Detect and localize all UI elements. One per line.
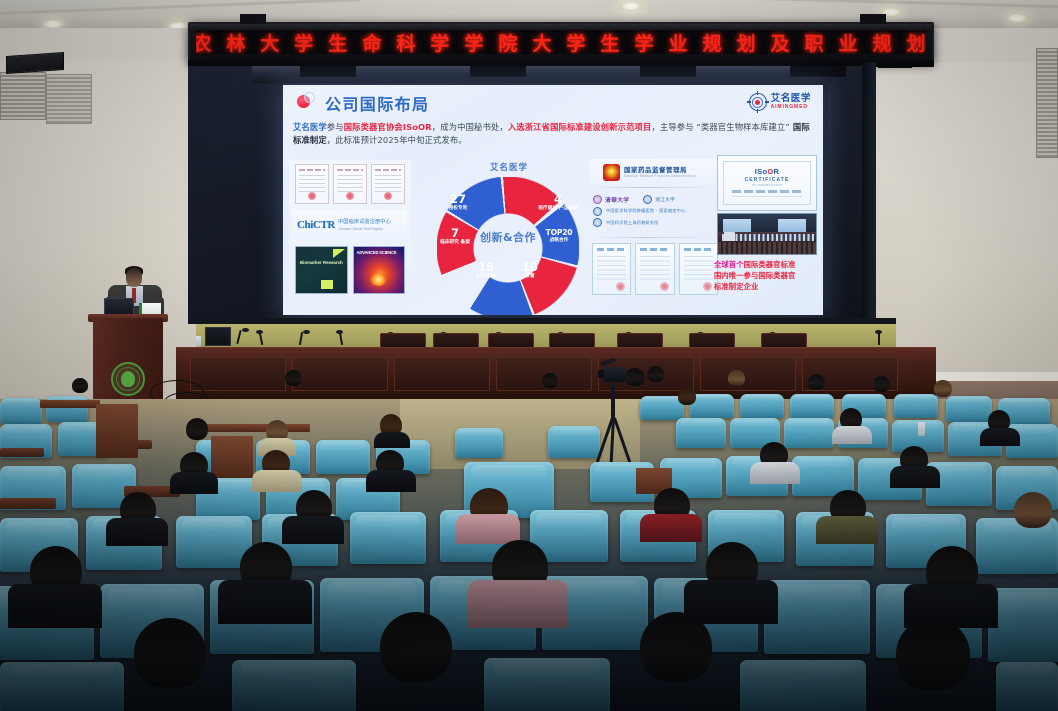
air-vent-icon — [46, 74, 92, 124]
laptop-icon — [205, 327, 231, 346]
recessed-downlight-icon — [620, 2, 642, 11]
seated-attendee-icon — [808, 374, 825, 390]
journal-cover-biomarker-research: Biomarker Research — [295, 246, 348, 294]
journal-title-2: ADVANCED SCIENCE — [357, 250, 397, 255]
journal-title-1: Biomarker Research — [300, 260, 343, 266]
auditorium-seat-icon[interactable] — [0, 398, 42, 424]
auditorium-seat-icon[interactable] — [946, 396, 992, 422]
university-seal-icon — [643, 195, 652, 204]
claim-line1-part2: 国际类器官标准 — [744, 260, 796, 269]
seat-armrest — [0, 498, 56, 509]
auditorium-seat-icon[interactable] — [988, 588, 1058, 662]
innovation-cooperation-donut: 27 授权专利 7 临床研究 备案 18 SCI 文章 10 软著 — [437, 177, 579, 299]
donut-segment-5 — [437, 177, 579, 315]
institute-seal-icon — [593, 207, 602, 216]
attendee-shoulders — [366, 470, 416, 492]
water-bottle-icon — [196, 336, 201, 347]
center-aisle-floor — [400, 399, 640, 469]
seated-attendee-icon — [134, 618, 206, 688]
auditorium-seat-icon[interactable] — [350, 512, 426, 564]
claim-line2: 国内唯一参与国际类器官 — [714, 270, 820, 281]
led-panel: 福 建 农 林 大 学 生 命 科 学 学 院 大 学 生 学 业 规 划 及 … — [196, 30, 926, 54]
auditorium-seat-icon[interactable] — [232, 660, 356, 711]
claim-line1-part1: 全球首个 — [714, 260, 744, 269]
seated-attendee-icon — [285, 370, 302, 386]
auditorium-seat-icon[interactable] — [740, 394, 784, 418]
attendee-shoulders — [468, 580, 568, 628]
university-name-3: 中国科学院上海药物研究所 — [606, 220, 659, 226]
slide-far-right-panel: ISoOR CERTIFICATE OF MEMBERSHIP — [714, 155, 820, 303]
chictr-registry-logo-block: ChiCTR 中国临床试验注册中心 Chinese Clinical Trial… — [293, 210, 407, 240]
seated-attendee-icon — [873, 376, 890, 392]
nmpa-name-cn: 国家药品监督管理局 — [624, 166, 696, 174]
attendee-shoulders — [106, 518, 168, 546]
body-seg-4: ，成为中国秘书处， — [432, 122, 508, 132]
valance-tab — [300, 66, 356, 77]
iso-certificate-subtitle2: OF MEMBERSHIP — [724, 183, 810, 187]
company-logo: 艾名医学 AIMINGMED — [748, 92, 811, 112]
led-mount-bracket — [240, 14, 266, 24]
air-vent-icon — [0, 72, 46, 120]
body-seg-1: 艾名医学 — [293, 122, 327, 132]
water-bottle-icon — [918, 422, 925, 436]
certificate-thumbnail — [592, 243, 631, 295]
seated-attendee-icon — [934, 380, 952, 397]
attendee-shoulders — [890, 466, 940, 488]
led-mount-bracket — [860, 14, 886, 24]
aimingmed-target-logo-icon — [748, 92, 768, 112]
led-scrolling-banner: 福 建 农 林 大 学 生 命 科 学 学 院 大 学 生 学 业 规 划 及 … — [188, 22, 934, 62]
auditorium-seat-icon[interactable] — [740, 660, 866, 711]
donut-brand-label: 艾名医学 — [415, 161, 603, 173]
auditorium-seat-icon[interactable] — [784, 418, 834, 448]
chictr-name-cn: 中国临床试验注册中心 — [338, 219, 391, 226]
red-seal-icon — [616, 282, 625, 291]
university-row: 中国医学科学院肿瘤医院 · 国家癌症中心 — [593, 207, 719, 216]
valance-tab — [790, 66, 846, 77]
stage-side-column — [862, 62, 876, 324]
red-seal-icon — [384, 192, 392, 200]
divider — [597, 237, 713, 238]
seated-attendee-icon — [542, 373, 558, 388]
body-seg-5: 入选浙江省国际标准建设创新示范项目 — [508, 122, 652, 132]
claim-line3: 标准制定企业 — [714, 281, 820, 292]
certificate-thumbnail — [295, 164, 329, 204]
auditorium-seat-icon[interactable] — [484, 658, 610, 711]
valance-tab — [640, 66, 696, 77]
logo-text-cn: 艾名医学 — [771, 94, 811, 104]
auditorium-seat-icon[interactable] — [548, 426, 600, 458]
slide-header: 公司国际布局 艾名医学 AIMINGMED — [283, 85, 823, 118]
auditorium-seat-icon[interactable] — [894, 394, 938, 418]
attendee-shoulders — [816, 516, 878, 544]
seated-attendee-icon — [728, 370, 745, 386]
microphone-icon — [875, 330, 882, 334]
attendee-shoulders — [684, 580, 778, 624]
bullet-ring-icon — [304, 92, 315, 103]
body-seg-2: 参与 — [327, 122, 344, 132]
slide-body-paragraph: 艾名医学参与国际类器官协会ISoOR，成为中国秘书处，入选浙江省国际标准建设创新… — [293, 121, 815, 148]
seated-attendee-icon — [678, 388, 696, 405]
conference-photo — [717, 213, 817, 255]
university-name-0: 清華大学 — [605, 195, 629, 204]
university-row: 清華大学 浙江大学 — [593, 195, 719, 204]
red-seal-icon — [346, 192, 354, 200]
auditorium-seat-icon[interactable] — [676, 418, 726, 448]
seated-attendee-icon — [640, 612, 712, 682]
attendee-shoulders — [750, 462, 800, 484]
seated-attendee-icon — [186, 418, 208, 440]
slide-content-columns: ChiCTR 中国临床试验注册中心 Chinese Clinical Trial… — [289, 157, 817, 309]
donut-chart-block: 艾名医学 27 授权专利 — [415, 157, 603, 303]
seat-armrest — [0, 448, 44, 457]
certificate-thumbnail — [333, 164, 367, 204]
auditorium-seat-icon[interactable] — [764, 580, 870, 654]
university-row: 中国科学院上海药物研究所 — [593, 218, 719, 227]
seat-writing-desk — [211, 436, 253, 482]
projected-slide: 公司国际布局 艾名医学 AIMINGMED 艾名医学参与国际类器官协会ISoOR… — [283, 85, 823, 315]
auditorium-seat-icon[interactable] — [790, 394, 834, 418]
body-seg-8: ，此标准预计2025年中旬正式发布。 — [327, 135, 467, 145]
slide-title: 公司国际布局 — [325, 91, 429, 115]
certificate-thumbnail — [679, 243, 718, 295]
logo-text-en: AIMINGMED — [771, 105, 811, 110]
slide-right-panel: 国家药品监督管理局 National Medical Products Admi… — [589, 157, 721, 297]
air-vent-icon — [1036, 48, 1058, 158]
attendee-shoulders — [374, 432, 410, 448]
camera-body — [604, 367, 625, 382]
attendee-shoulders — [170, 472, 218, 494]
microphone-icon — [303, 330, 310, 334]
attendee-shoulders — [980, 428, 1020, 446]
microphone-icon — [256, 330, 263, 334]
nmpa-name-en: National Medical Products Administration — [624, 174, 696, 178]
divider — [597, 187, 713, 188]
university-name-2: 中国医学科学院肿瘤医院 · 国家癌症中心 — [606, 208, 686, 214]
seated-attendee-icon — [896, 618, 970, 690]
chictr-logo-icon: ChiCTR — [297, 219, 335, 231]
nmpa-logo-block: 国家药品监督管理局 National Medical Products Admi… — [589, 159, 721, 185]
attendee-shoulders — [640, 514, 702, 542]
certificate-thumbnail — [635, 243, 674, 295]
attendee-shoulders — [832, 426, 872, 444]
body-seg-6: ，主导参与 “类器官生物样本库建立” — [651, 122, 789, 132]
attendee-shoulders — [282, 516, 344, 544]
recessed-downlight-icon — [1006, 14, 1028, 23]
certificate-thumbnail — [371, 164, 405, 204]
chictr-name-en: Chinese Clinical Trial Registry — [338, 227, 391, 231]
seated-attendee-icon — [1014, 492, 1052, 528]
national-emblem-icon — [603, 164, 620, 181]
certificate-row — [592, 243, 718, 295]
journal-cover-row: Biomarker Research ADVANCED SCIENCE — [295, 246, 405, 294]
university-seal-icon — [593, 195, 602, 204]
journal-cover-advanced-science: ADVANCED SCIENCE — [353, 246, 406, 294]
attendee-shoulders — [456, 514, 520, 544]
auditorium-seat-icon[interactable] — [976, 518, 1058, 574]
microphone-icon — [336, 330, 343, 334]
auditorium-seat-icon[interactable] — [316, 440, 370, 474]
slide-left-panel: ChiCTR 中国临床试验注册中心 Chinese Clinical Trial… — [289, 160, 411, 300]
global-standard-claim: 全球首个国际类器官标准 国内唯一参与国际类器官 标准制定企业 — [714, 259, 820, 292]
university-partner-list: 清華大学 浙江大学 中国医学科学院肿瘤医院 · 国家癌症中心 中国科学院上海 — [593, 195, 719, 235]
microphone-icon — [242, 328, 249, 332]
attendee-shoulders — [8, 584, 102, 628]
donut-center-label: 创新&合作 — [465, 229, 551, 245]
auditorium-lecture-photo: 福 建 农 林 大 学 生 命 科 学 学 院 大 学 生 学 业 规 划 及 … — [0, 0, 1058, 711]
tripod-column — [611, 381, 615, 421]
auditorium-seat-icon[interactable] — [455, 428, 503, 458]
led-banner-text: 福 建 农 林 大 学 生 命 科 学 学 院 大 学 生 学 业 规 划 及 … — [196, 30, 926, 54]
red-seal-icon — [660, 282, 669, 291]
isoor-certificate: ISoOR CERTIFICATE OF MEMBERSHIP — [717, 155, 817, 211]
fafu-university-emblem-icon — [111, 362, 145, 396]
institute-seal-icon — [593, 218, 602, 227]
seated-attendee-icon — [647, 366, 664, 382]
small-certificate-row — [295, 164, 405, 204]
auditorium-seat-icon[interactable] — [0, 662, 124, 711]
red-seal-icon — [703, 282, 712, 291]
seated-attendee-icon — [72, 378, 88, 393]
body-seg-3: 国际类器官协会ISoOR — [344, 122, 432, 132]
auditorium-seat-icon[interactable] — [996, 662, 1058, 711]
seat-writing-desk — [96, 404, 138, 458]
auditorium-seat-icon[interactable] — [690, 394, 734, 418]
seated-attendee-icon — [380, 612, 452, 682]
attendee-shoulders — [252, 470, 302, 492]
university-name-1: 浙江大学 — [655, 197, 675, 203]
iso-certificate-title: ISoOR — [724, 167, 810, 176]
camera-operator-icon — [625, 368, 645, 386]
seat-writing-desk — [40, 400, 100, 408]
red-seal-icon — [308, 192, 316, 200]
attendee-shoulders — [218, 580, 312, 624]
speaker-head — [126, 268, 142, 287]
valance-tab — [470, 66, 526, 77]
